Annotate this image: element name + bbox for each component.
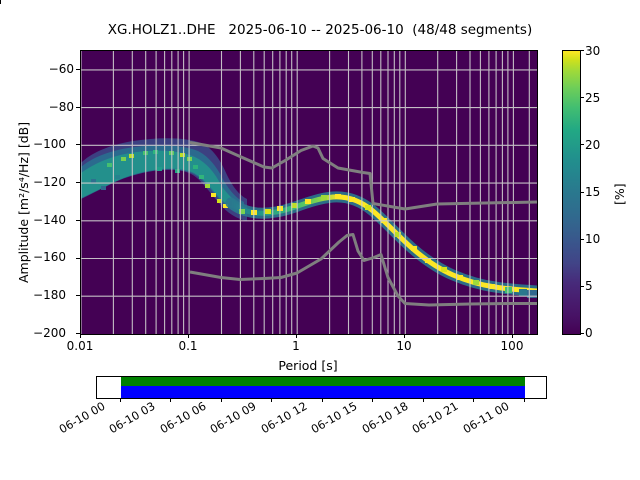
x-tick-mark	[404, 334, 405, 338]
colorbar-tick-mark	[580, 239, 584, 240]
time-tick-label: 06-10 03	[107, 400, 157, 437]
colorbar-tick-label: 0	[585, 326, 593, 340]
colorbar-tick-mark	[580, 144, 584, 145]
coverage-bar-psd-segments[interactable]	[121, 377, 525, 386]
y-tick-label: −180	[22, 288, 66, 302]
colorbar-tick-mark	[580, 286, 584, 287]
colorbar-axis-label: [%]	[612, 183, 627, 205]
y-tick-mark	[76, 258, 80, 259]
page-title: XG.HOLZ1..DHE 2025-06-10 -- 2025-06-10 (…	[0, 22, 640, 38]
coverage-bar-continuous-data[interactable]	[121, 386, 525, 398]
x-tick-mark	[296, 334, 297, 338]
time-tick-label: 06-10 21	[410, 400, 460, 437]
peterson-low-noise-model	[190, 235, 537, 306]
colorbar-tick-label: 5	[585, 279, 593, 293]
x-tick-label: 0.01	[50, 339, 110, 353]
time-tick-mark	[423, 398, 424, 402]
colorbar[interactable]	[562, 50, 581, 335]
y-tick-mark	[76, 220, 80, 221]
y-tick-mark	[76, 69, 80, 70]
ppsd-axes[interactable]	[80, 50, 538, 335]
y-tick-mark	[76, 144, 80, 145]
time-tick-label: 06-10 06	[158, 400, 208, 437]
time-tick-mark	[524, 398, 525, 402]
time-tick-label: 06-11 00	[461, 400, 511, 437]
colorbar-tick-label: 30	[585, 44, 600, 58]
colorbar-tick-mark	[580, 333, 584, 334]
time-tick-mark	[322, 398, 323, 402]
ppsd-plot-svg	[81, 51, 537, 334]
x-tick-mark	[188, 334, 189, 338]
y-tick-mark	[76, 182, 80, 183]
colorbar-tick-label: 10	[585, 232, 600, 246]
time-tick-mark	[221, 398, 222, 402]
x-tick-mark	[512, 334, 513, 338]
time-tick-label: 06-10 12	[259, 400, 309, 437]
time-tick-mark	[271, 398, 272, 402]
x-tick-label: 10	[374, 339, 434, 353]
time-tick-mark	[372, 398, 373, 402]
colorbar-tick-label: 25	[585, 91, 600, 105]
y-tick-mark	[76, 107, 80, 108]
colorbar-tick-mark	[580, 50, 584, 51]
x-axis-label: Period [s]	[80, 358, 536, 373]
y-tick-label: −200	[22, 326, 66, 340]
colorbar-tick-mark	[580, 192, 584, 193]
time-tick-label: 06-10 09	[208, 400, 258, 437]
y-axis-label: Amplitude [m²/s⁴/Hz] [dB]	[16, 122, 31, 283]
x-tick-label: 100	[482, 339, 542, 353]
y-tick-mark	[76, 295, 80, 296]
colorbar-tick-mark	[580, 97, 584, 98]
time-tick-label: 06-10 00	[57, 400, 107, 437]
time-tick-mark	[473, 398, 474, 402]
coverage-timeline-axes[interactable]	[96, 376, 547, 399]
grid-lines	[81, 51, 537, 334]
figure-canvas: XG.HOLZ1..DHE 2025-06-10 -- 2025-06-10 (…	[0, 0, 640, 480]
time-tick-mark	[170, 398, 171, 402]
colorbar-tick-label: 15	[585, 185, 600, 199]
x-tick-label: 1	[266, 339, 326, 353]
colorbar-tick-label: 20	[585, 138, 600, 152]
x-tick-label: 0.1	[158, 339, 218, 353]
density-cloud-group	[81, 138, 537, 298]
y-tick-label: −80	[30, 100, 74, 114]
y-tick-label: −60	[30, 62, 74, 76]
time-tick-mark	[120, 398, 121, 402]
x-tick-mark	[80, 334, 81, 338]
time-tick-label: 06-10 18	[360, 400, 410, 437]
time-tick-label: 06-10 15	[309, 400, 359, 437]
